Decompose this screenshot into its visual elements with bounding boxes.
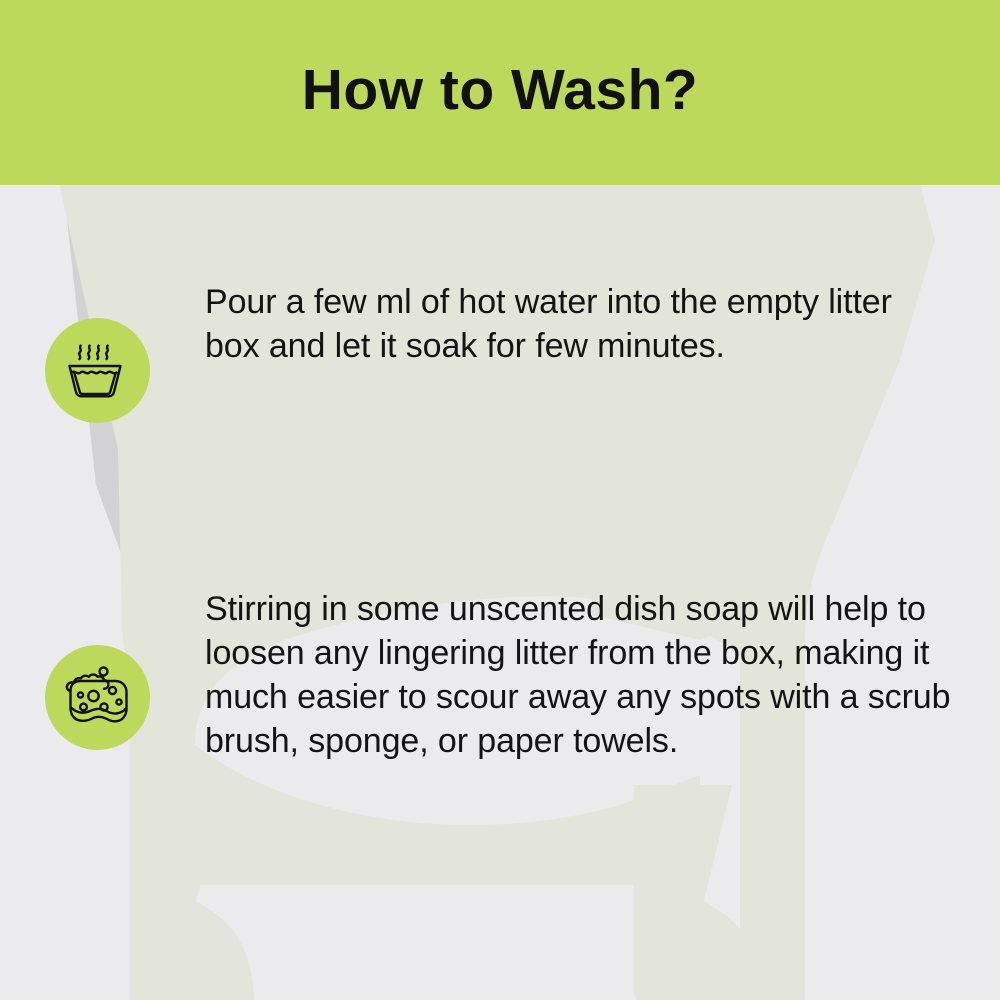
hot-water-wash-basin-icon [63,336,133,406]
header-band: How to Wash? [0,0,1000,185]
step-item: Pour a few ml of hot water into the empt… [45,280,955,423]
step-2-text: Stirring in some unscented dish soap wil… [205,587,975,763]
infographic-card: How to Wash? [0,0,1000,1000]
steps-list: Pour a few ml of hot water into the empt… [0,185,1000,1000]
soapy-sponge-icon [62,662,134,734]
step-1-icon-badge [45,318,150,423]
step-2-icon-badge [45,645,150,750]
step-item: Stirring in some unscented dish soap wil… [45,587,975,763]
step-1-text: Pour a few ml of hot water into the empt… [205,280,955,368]
page-title: How to Wash? [302,62,699,119]
